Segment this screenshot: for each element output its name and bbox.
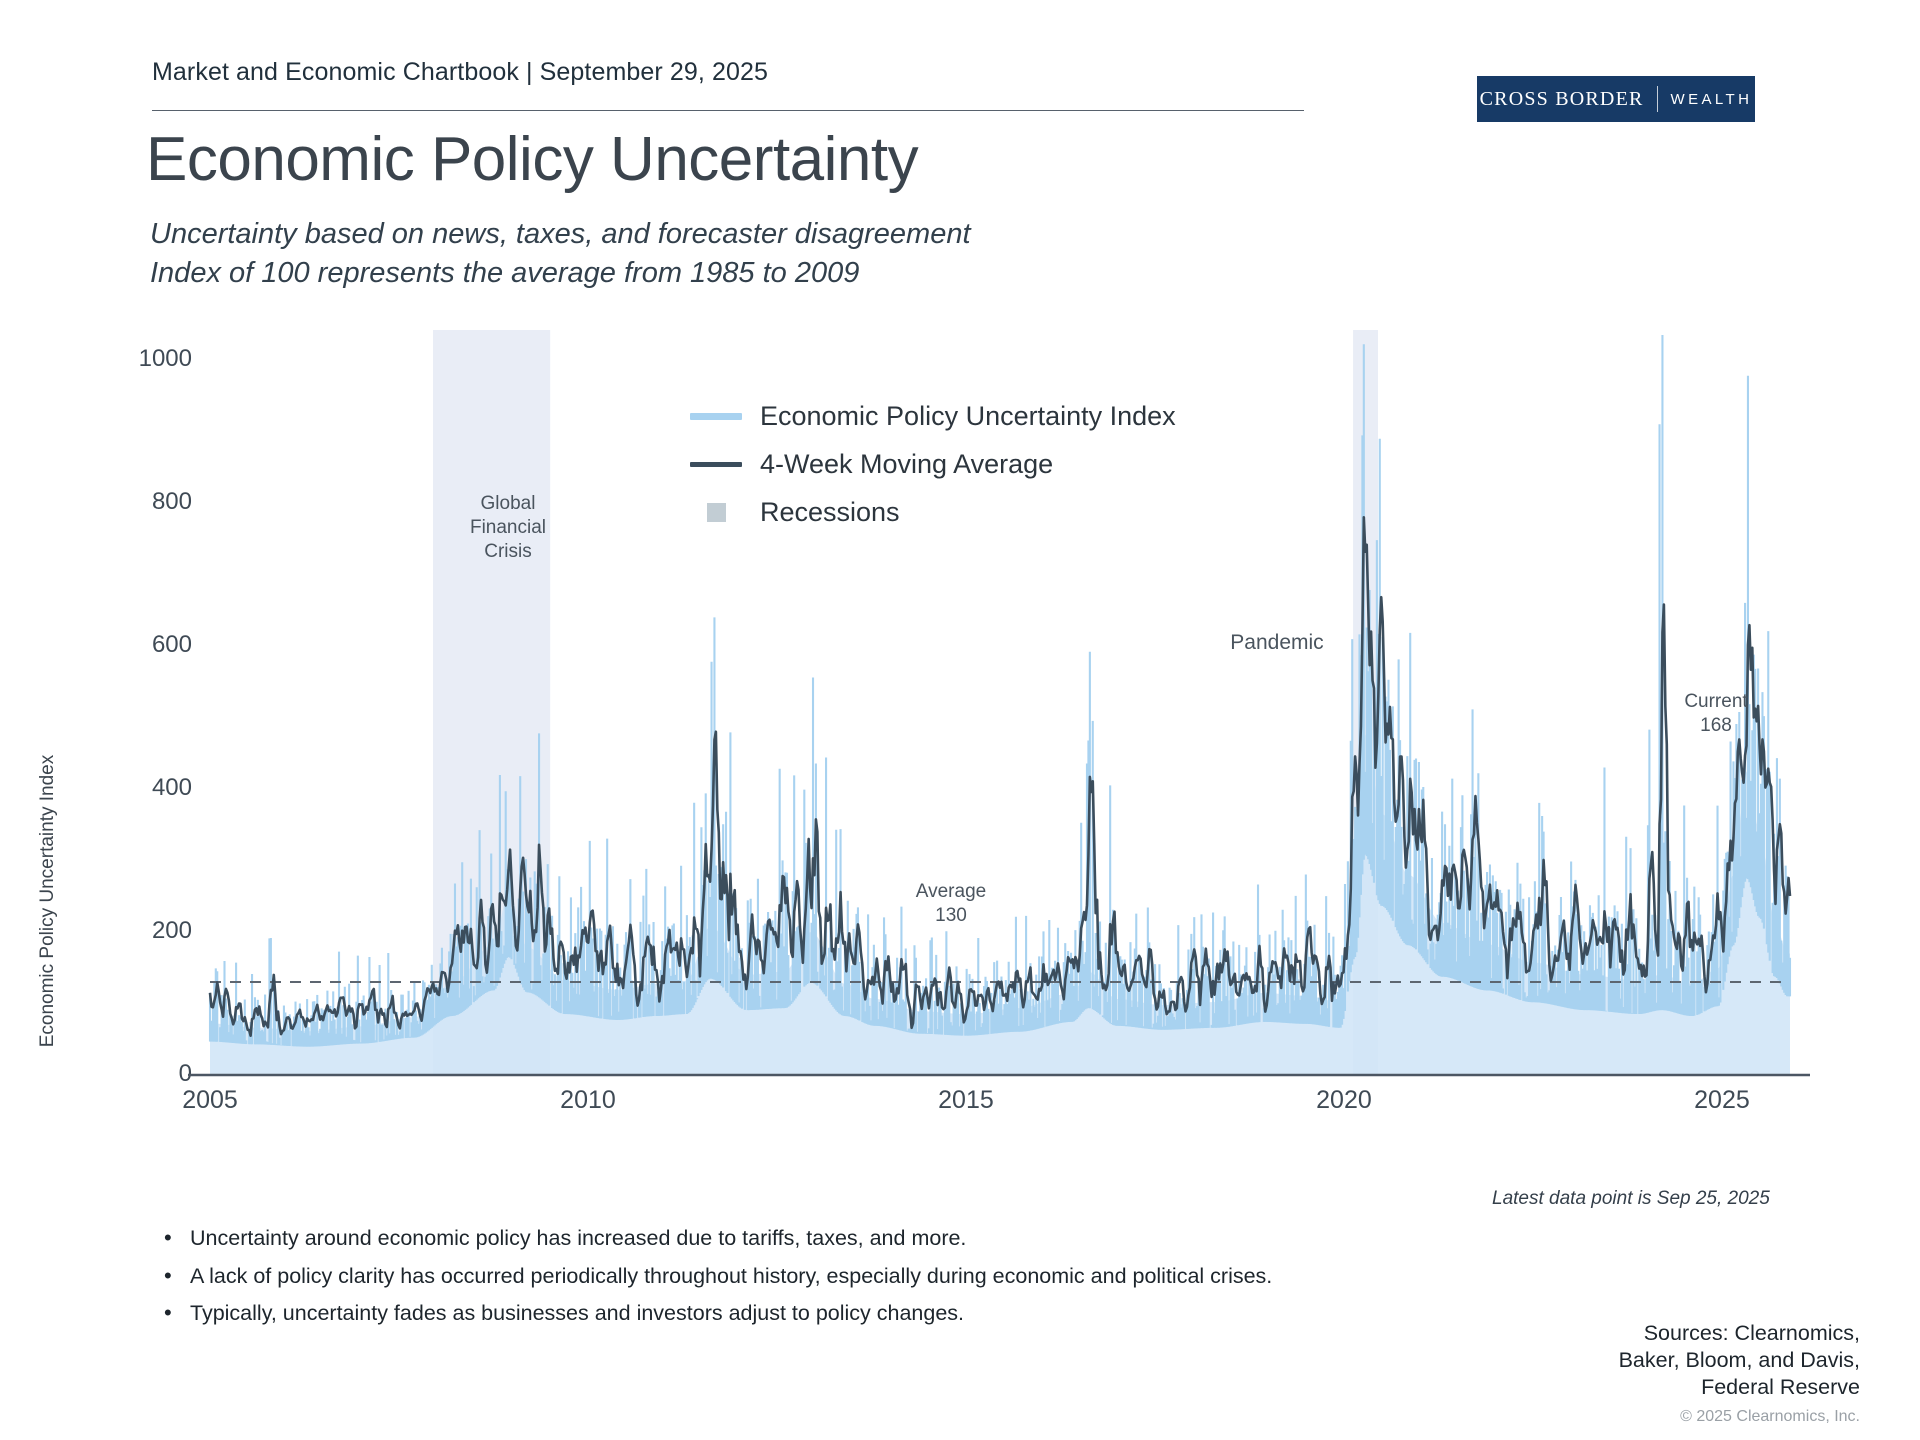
legend-swatch-line-icon: [690, 462, 742, 467]
logo-divider: [1657, 86, 1658, 112]
slide-root: Market and Economic Chartbook | Septembe…: [0, 0, 1920, 1440]
bullet-item: •A lack of policy clarity has occurred p…: [160, 1262, 1340, 1291]
takeaway-bullets: •Uncertainty around economic policy has …: [160, 1224, 1340, 1337]
legend-swatch-square-icon: [690, 503, 742, 522]
legend-label-index: Economic Policy Uncertainty Index: [742, 401, 1176, 432]
epu-chart: Economic Policy Uncertainty Index 020040…: [0, 330, 1920, 1120]
copyright-note: © 2025 Clearnomics, Inc.: [1440, 1408, 1860, 1426]
chartbook-kicker: Market and Economic Chartbook | Septembe…: [152, 58, 768, 87]
legend-item-index: Economic Policy Uncertainty Index: [690, 392, 1176, 440]
cross-border-wealth-logo: CROSS BORDER WEALTH: [1477, 76, 1755, 122]
bullet-dot-icon: •: [160, 1262, 190, 1291]
chart-legend: Economic Policy Uncertainty Index 4-Week…: [690, 392, 1176, 536]
page-title: Economic Policy Uncertainty: [146, 124, 918, 195]
legend-label-moving-average: 4-Week Moving Average: [742, 449, 1053, 480]
bullet-text: Typically, uncertainty fades as business…: [190, 1299, 964, 1328]
x-tick-label: 2005: [182, 1086, 238, 1115]
annotation-average: Average 130: [861, 880, 1041, 928]
bullet-text: Uncertainty around economic policy has i…: [190, 1224, 966, 1253]
logo-primary-text: CROSS BORDER: [1480, 88, 1657, 111]
header-divider: [152, 110, 1304, 111]
annotation-current: Current 168: [1626, 690, 1806, 738]
legend-item-recessions: Recessions: [690, 488, 1176, 536]
x-tick-label: 2020: [1316, 1086, 1372, 1115]
sources-note: Sources: Clearnomics, Baker, Bloom, and …: [1440, 1320, 1860, 1401]
latest-data-point-note: Latest data point is Sep 25, 2025: [1492, 1188, 1770, 1210]
bullet-dot-icon: •: [160, 1299, 190, 1328]
x-tick-label: 2015: [938, 1086, 994, 1115]
page-subtitle: Uncertainty based on news, taxes, and fo…: [150, 215, 971, 292]
bullet-item: •Typically, uncertainty fades as busines…: [160, 1299, 1340, 1328]
bullet-item: •Uncertainty around economic policy has …: [160, 1224, 1340, 1253]
x-tick-label: 2025: [1694, 1086, 1750, 1115]
bullet-text: A lack of policy clarity has occurred pe…: [190, 1262, 1272, 1291]
bullet-dot-icon: •: [160, 1224, 190, 1253]
annotation-gfc: Global Financial Crisis: [418, 492, 598, 564]
legend-swatch-line-icon: [690, 413, 742, 420]
logo-secondary-text: WEALTH: [1658, 91, 1753, 108]
legend-label-recessions: Recessions: [742, 497, 900, 528]
x-tick-label: 2010: [560, 1086, 616, 1115]
annotation-pandemic: Pandemic: [1187, 630, 1367, 657]
legend-item-moving-average: 4-Week Moving Average: [690, 440, 1176, 488]
